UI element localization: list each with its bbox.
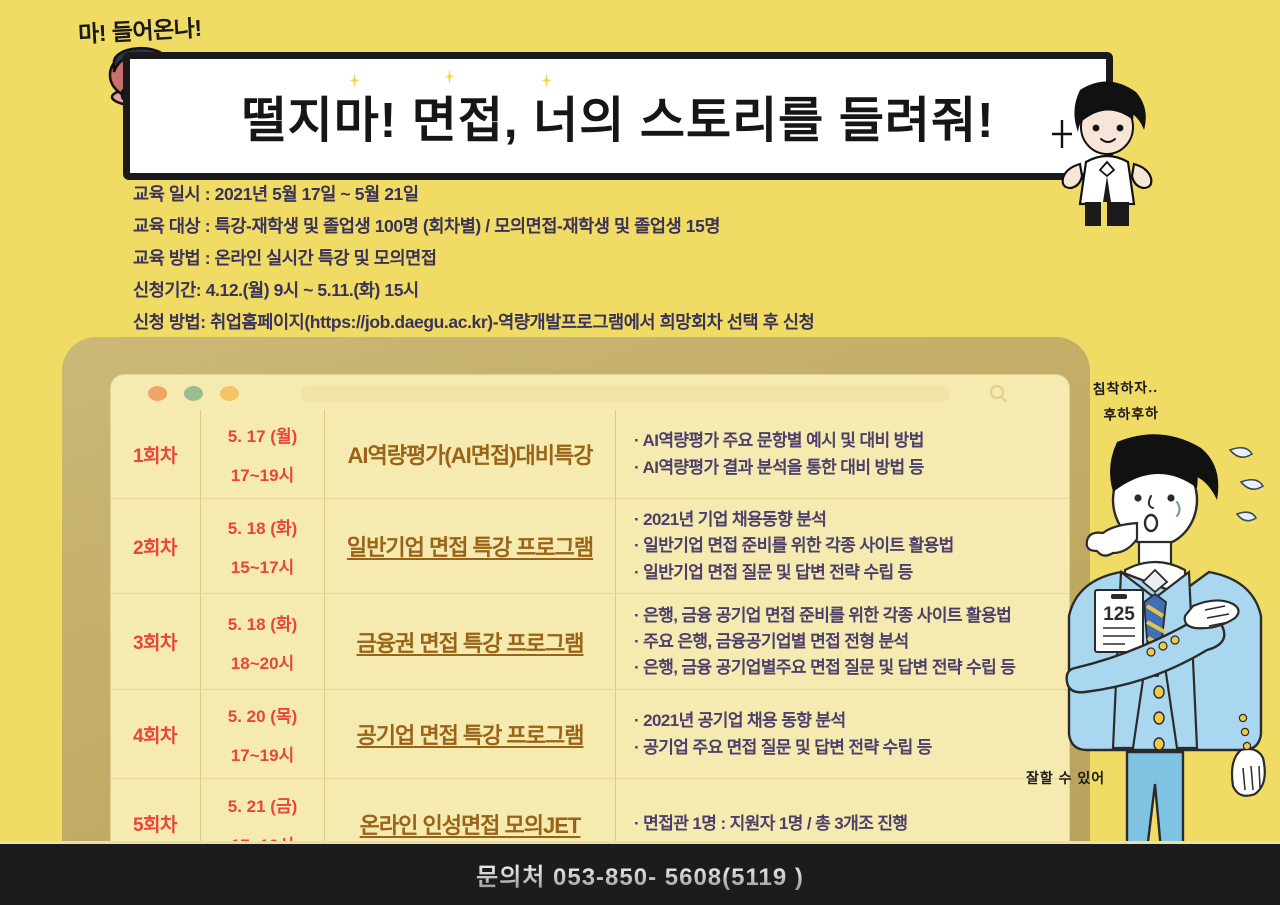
session-time: 17~19시	[201, 741, 324, 766]
session-datetime: 5. 20 (목) 17~19시	[200, 690, 325, 778]
session-date: 5. 18 (화)	[201, 514, 324, 539]
nervous-student-illustration: 125	[1055, 430, 1280, 850]
info-line-apply-period: 신청기간: 4.12.(월) 9시 ~ 5.11.(화) 15시	[133, 282, 953, 300]
footer-bar: 문의처 053-850- 5608(5119 )	[0, 844, 1280, 905]
detail-bullet: · 2021년 공기업 채용 동향 분석	[634, 710, 1070, 731]
info-line-date: 교육 일시 : 2021년 5월 17일 ~ 5월 21일	[133, 186, 953, 204]
session-time: 17~19시	[201, 461, 324, 486]
info-list: 교육 일시 : 2021년 5월 17일 ~ 5월 21일 교육 대상 : 특강…	[133, 186, 953, 346]
detail-bullet: · 면접관 1명 : 지원자 1명 / 총 3개조 진행	[634, 813, 1070, 834]
session-details: · 면접관 1명 : 지원자 1명 / 총 3개조 진행	[615, 779, 1070, 850]
detail-bullet: · 일반기업 면접 질문 및 답변 전략 수립 등	[634, 562, 1070, 583]
session-date: 5. 20 (목)	[201, 702, 324, 727]
note-calm: 침착하자.. 후하후하	[1092, 377, 1159, 425]
detail-bullet: · 일반기업 면접 준비를 위한 각종 사이트 활용법	[634, 535, 1070, 556]
session-title: 공기업 면접 특강 프로그램	[325, 718, 615, 750]
note-calm-line2: 후하후하	[1103, 403, 1159, 425]
session-number: 3회차	[110, 628, 200, 655]
session-date: 5. 17 (월)	[201, 422, 324, 447]
session-number: 5회차	[110, 810, 200, 837]
session-datetime: 5. 18 (화) 18~20시	[200, 594, 325, 689]
schedule-table: 1회차 5. 17 (월) 17~19시 AI역량평가(AI면접)대비특강 · …	[110, 410, 1070, 850]
page-title: 떨지마! 면접, 너의 스토리를 들려줘!	[130, 59, 1106, 173]
table-row: 5회차 5. 21 (금) 17~19시 온라인 인성면접 모의JET · 면접…	[110, 778, 1070, 850]
window-close-icon[interactable]	[148, 386, 167, 401]
table-row: 2회차 5. 18 (화) 15~17시 일반기업 면접 특강 프로그램 · 2…	[110, 498, 1070, 593]
search-icon[interactable]	[990, 385, 1004, 399]
detail-bullet: · AI역량평가 결과 분석을 통한 대비 방법 등	[634, 457, 1070, 478]
window-minimize-icon[interactable]	[184, 386, 203, 401]
session-details: · 은행, 금융 공기업 면접 준비를 위한 각종 사이트 활용법 · 주요 은…	[615, 594, 1070, 689]
session-number: 1회차	[110, 441, 200, 468]
contact-text: 문의처 053-850- 5608(5119 )	[476, 857, 804, 892]
detail-bullet: · 은행, 금융 공기업별주요 면접 질문 및 답변 전략 수립 등	[634, 657, 1070, 678]
info-line-target: 교육 대상 : 특강-재학생 및 졸업생 100명 (회차별) / 모의면접-재…	[133, 218, 953, 236]
session-date: 5. 21 (금)	[201, 792, 324, 817]
note-calm-line1: 침착하자..	[1092, 379, 1158, 397]
session-time: 15~17시	[201, 553, 324, 578]
session-title: 온라인 인성면접 모의JET	[325, 808, 615, 840]
session-title: AI역량평가(AI면접)대비특강	[325, 438, 615, 470]
detail-bullet: · 2021년 기업 채용동향 분석	[634, 509, 1070, 530]
poster-root: 마! 들어온나! 떨지마! 면접, 너의 스토리를 들려줘!	[0, 0, 1280, 905]
table-row: 1회차 5. 17 (월) 17~19시 AI역량평가(AI면접)대비특강 · …	[110, 410, 1070, 498]
detail-bullet: · AI역량평가 주요 문항별 예시 및 대비 방법	[634, 430, 1070, 451]
session-title: 금융권 면접 특강 프로그램	[325, 626, 615, 658]
cheering-student-illustration	[1040, 72, 1175, 227]
session-details: · 2021년 공기업 채용 동향 분석 · 공기업 주요 면접 질문 및 답변…	[615, 690, 1070, 778]
info-line-apply-how: 신청 방법: 취업홈페이지(https://job.daegu.ac.kr)-역…	[133, 314, 953, 332]
session-details: · AI역량평가 주요 문항별 예시 및 대비 방법 · AI역량평가 결과 분…	[615, 410, 1070, 498]
detail-bullet: · 은행, 금융 공기업 면접 준비를 위한 각종 사이트 활용법	[634, 605, 1070, 626]
detail-bullet: · 주요 은행, 금융공기업별 면접 전형 분석	[634, 631, 1070, 652]
kicker-text: 마! 들어온나!	[77, 9, 202, 49]
info-line-method: 교육 방법 : 온라인 실시간 특강 및 모의면접	[133, 250, 953, 268]
session-title: 일반기업 면접 특강 프로그램	[325, 530, 615, 562]
detail-bullet: · 공기업 주요 면접 질문 및 답변 전략 수립 등	[634, 737, 1070, 758]
badge-number: 125	[1103, 604, 1135, 625]
session-time: 18~20시	[201, 649, 324, 674]
window-maximize-icon[interactable]	[220, 386, 239, 401]
address-bar[interactable]	[300, 385, 950, 402]
session-number: 4회차	[110, 721, 200, 748]
table-row: 3회차 5. 18 (화) 18~20시 금융권 면접 특강 프로그램 · 은행…	[110, 593, 1070, 689]
session-datetime: 5. 17 (월) 17~19시	[200, 410, 325, 498]
title-box: 떨지마! 면접, 너의 스토리를 들려줘!	[123, 52, 1113, 180]
session-datetime: 5. 18 (화) 15~17시	[200, 499, 325, 593]
session-date: 5. 18 (화)	[201, 610, 324, 635]
session-datetime: 5. 21 (금) 17~19시	[200, 779, 325, 850]
browser-window: 1회차 5. 17 (월) 17~19시 AI역량평가(AI면접)대비특강 · …	[110, 374, 1070, 850]
session-details: · 2021년 기업 채용동향 분석 · 일반기업 면접 준비를 위한 각종 사…	[615, 499, 1070, 593]
session-number: 2회차	[110, 533, 200, 560]
table-row: 4회차 5. 20 (목) 17~19시 공기업 면접 특강 프로그램 · 20…	[110, 689, 1070, 778]
browser-title-bar	[110, 374, 1070, 410]
